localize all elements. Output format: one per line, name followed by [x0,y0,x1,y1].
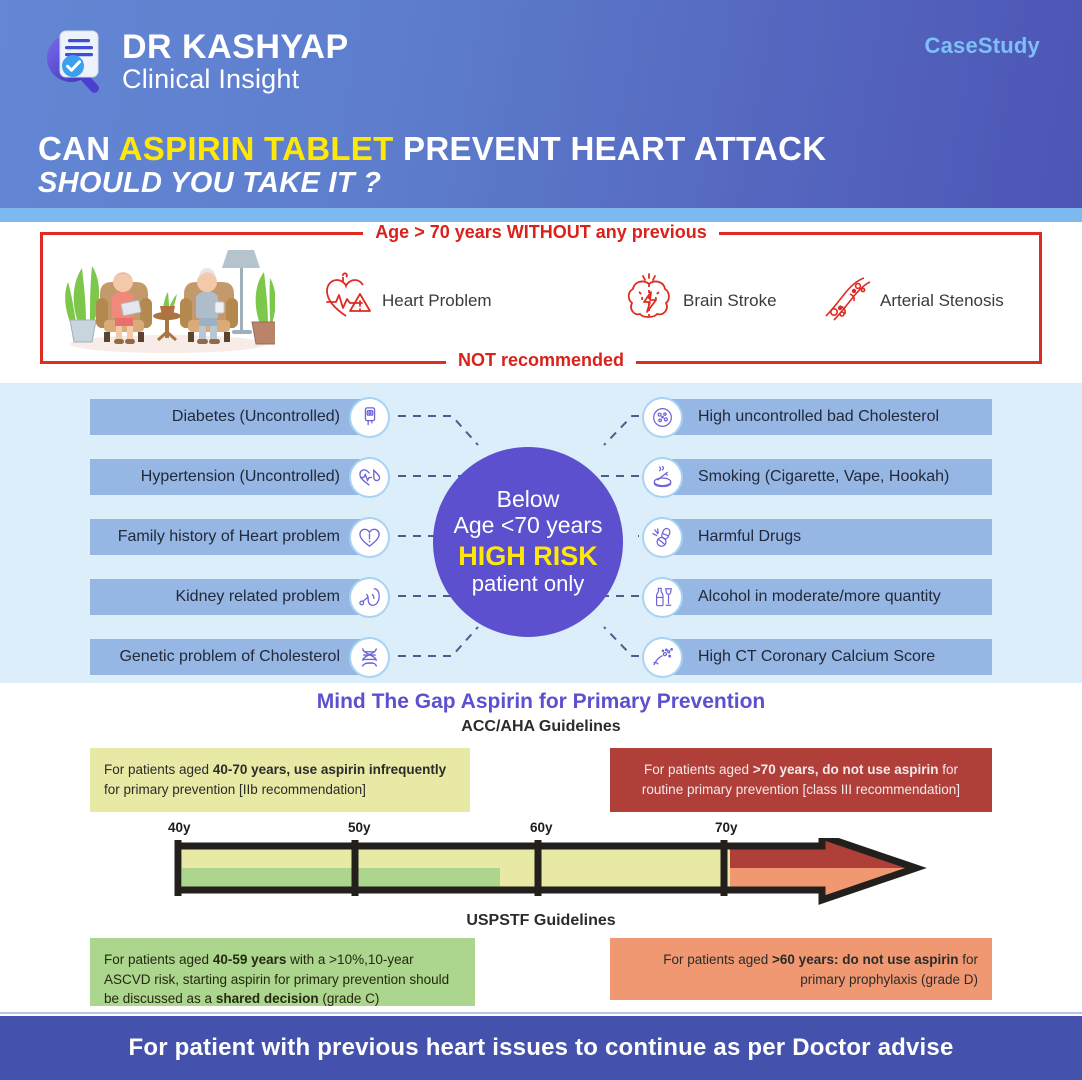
tick-label-60y: 60y [530,820,553,835]
acc-aha-left-callout: For patients aged 40-70 years, use aspir… [90,748,470,812]
acc-aha-right-callout: For patients aged >70 years, do not use … [610,748,992,812]
uspstf-left-callout: For patients aged 40-59 years with a >10… [90,938,475,1006]
elderly-couple-armchairs-illustration [60,244,275,354]
brand-name: DR KASHYAP [122,28,349,66]
risk-label: Kidney related problem [90,579,370,615]
heart-exclamation-icon [349,517,390,558]
page-subtitle: SHOULD YOU TAKE IT ? [38,167,381,200]
risk-item-calcium-score[interactable]: High CT Coronary Calcium Score [662,639,992,675]
condition-label: Brain Stroke [683,291,777,311]
footer-divider [0,1012,1082,1014]
brand-tagline: Clinical Insight [122,64,349,94]
page-title: CAN ASPIRIN TABLET PREVENT HEART ATTACK [38,130,826,168]
risk-label: Genetic problem of Cholesterol [90,639,370,675]
tick-label-70y: 70y [715,820,738,835]
acc-right-text-1: For patients aged [644,762,753,777]
magnifier-document-check-icon [38,22,116,100]
usp-left-bold-1: 40-59 years [213,952,287,967]
brain-stroke-icon [623,272,675,329]
risk-item-smoking[interactable]: Smoking (Cigarette, Vape, Hookah) [662,459,992,495]
guidelines-section-title: Mind The Gap Aspirin for Primary Prevent… [0,690,1082,714]
artery-stenosis-icon [820,272,872,329]
footer-banner: For patient with previous heart issues t… [0,1016,1082,1080]
title-part-2: PREVENT HEART ATTACK [394,130,827,167]
circle-line-4: patient only [472,572,585,597]
timeline-arrow [150,838,960,910]
risk-label: Harmful Drugs [662,519,992,555]
risk-label: High uncontrolled bad Cholesterol [662,399,992,435]
risk-label: Diabetes (Uncontrolled) [90,399,370,435]
uspstf-right-callout: For patients aged >60 years: do not use … [610,938,992,1000]
risk-item-hypertension[interactable]: Hypertension (Uncontrolled) [90,459,370,495]
circle-line-2: Age <70 years [454,513,603,539]
tick-label-40y: 40y [168,820,191,835]
condition-label: Heart Problem [382,291,492,311]
circle-line-1: Below [497,487,560,513]
usp-right-text-1: For patients aged [663,952,772,967]
risk-item-diabetes[interactable]: Diabetes (Uncontrolled) [90,399,370,435]
condition-heart-problem: Heart Problem [322,272,492,329]
glucometer-icon [349,397,390,438]
dna-icon [349,637,390,678]
risk-label: Smoking (Cigarette, Vape, Hookah) [662,459,992,495]
calcium-scan-icon [642,637,683,678]
risk-item-genetic-cholesterol[interactable]: Genetic problem of Cholesterol [90,639,370,675]
risk-item-harmful-drugs[interactable]: Harmful Drugs [662,519,992,555]
header-accent-band [0,208,1082,222]
acc-right-bold-1: >70 years, do not use aspirin [753,762,939,777]
risk-label: Family history of Heart problem [90,519,370,555]
age-timeline: 40y 50y 60y 70y [150,820,960,910]
high-risk-circle: Below Age <70 years HIGH RISK patient on… [433,447,623,637]
title-highlight: ASPIRIN TABLET [119,130,394,167]
condition-brain-stroke: Brain Stroke [623,272,777,329]
risk-item-kidney[interactable]: Kidney related problem [90,579,370,615]
cholesterol-plaque-icon [642,397,683,438]
heart-warning-icon [322,272,374,329]
heart-pulse-pressure-icon [349,457,390,498]
risk-label: Alcohol in moderate/more quantity [662,579,992,615]
header-banner: DR KASHYAP Clinical Insight CaseStudy CA… [0,0,1082,208]
title-part-1: CAN [38,130,119,167]
acc-aha-title: ACC/AHA Guidelines [0,718,1082,736]
risk-item-cholesterol[interactable]: High uncontrolled bad Cholesterol [662,399,992,435]
uspstf-title: USPSTF Guidelines [0,912,1082,930]
kidney-icon [349,577,390,618]
tick-label-50y: 50y [348,820,371,835]
infographic-page: DR KASHYAP Clinical Insight CaseStudy CA… [0,0,1082,1080]
footer-text: For patient with previous heart issues t… [15,1024,1067,1072]
usp-right-bold-1: >60 years: do not use aspirin [772,952,958,967]
circle-line-3: HIGH RISK [458,541,598,571]
brand-logo: DR KASHYAP Clinical Insight [38,22,349,100]
acc-left-text-1: For patients aged [104,762,213,777]
risk-label: Hypertension (Uncontrolled) [90,459,370,495]
pills-drugs-icon [642,517,683,558]
case-study-badge: CaseStudy [924,33,1040,59]
usp-left-text-3: (grade C) [319,991,380,1006]
usp-left-bold-2: shared decision [216,991,319,1006]
usp-left-text-1: For patients aged [104,952,213,967]
cigarette-ashtray-icon [642,457,683,498]
condition-arterial-stenosis: Arterial Stenosis [820,272,1004,329]
risk-label: High CT Coronary Calcium Score [662,639,992,675]
acc-left-bold-1: 40-70 years, use aspirin infrequently [213,762,446,777]
condition-label: Arterial Stenosis [880,291,1004,311]
acc-left-text-2: for primary prevention [IIb recommendati… [104,782,366,797]
bottle-glass-icon [642,577,683,618]
risk-item-family-history[interactable]: Family history of Heart problem [90,519,370,555]
risk-item-alcohol[interactable]: Alcohol in moderate/more quantity [662,579,992,615]
